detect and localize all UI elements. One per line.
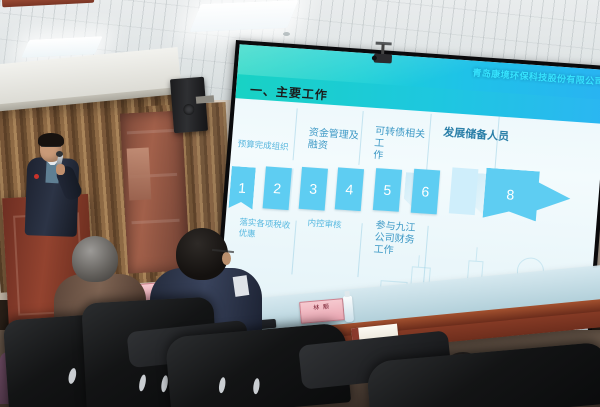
step-label-6: 参与九江 公司财务 工作 <box>373 220 428 260</box>
audience-2-ear <box>222 252 231 265</box>
flow-step-4[interactable]: 4 <box>335 167 364 211</box>
step-label-3: 资金管理及 融资 <box>307 127 361 155</box>
speaker-driver-icon <box>183 104 195 116</box>
presenter-lapel-pin <box>34 174 39 179</box>
presenter <box>24 136 86 232</box>
step-label-1: 预算完成组织 <box>237 138 296 153</box>
presenter-hand <box>56 164 65 175</box>
name-placard: 林 颙 <box>299 298 345 324</box>
flow-step-6[interactable]: 6 <box>411 169 440 215</box>
step-label-5: 可转债相关工 作 <box>373 126 430 166</box>
flow-step-1[interactable]: 1 <box>229 166 256 210</box>
chair-highlight <box>252 378 260 395</box>
audience-1-head <box>72 236 118 282</box>
step-label-4: 内控审核 <box>307 217 362 232</box>
audience-2-shirt <box>233 275 250 297</box>
flow-step-7[interactable]: 7 <box>449 167 479 215</box>
audience-2-head <box>176 228 228 280</box>
wall-speaker <box>170 77 208 134</box>
smoke-detector-icon <box>283 32 290 36</box>
flow-step-8[interactable]: 8 <box>483 168 573 224</box>
flow-step-2[interactable]: 2 <box>263 166 292 210</box>
chair-highlight <box>218 377 226 394</box>
microphone-head-icon <box>56 151 63 157</box>
step-label-8: 发展储备人员 <box>443 127 544 147</box>
wood-wall-panel-highlight <box>127 147 152 200</box>
chair-highlight <box>67 367 77 384</box>
conference-room-photo: 青岛康境环保科技股份有限公司 一、主要工作 <box>0 0 600 407</box>
label-separator <box>494 117 500 175</box>
name-placard-text: 林 颙 <box>300 299 343 315</box>
flow-step-5[interactable]: 5 <box>373 168 402 212</box>
ceiling-projector <box>372 47 395 64</box>
presenter-hair <box>38 133 64 147</box>
chair-highlight <box>138 374 147 392</box>
flow-step-3[interactable]: 3 <box>299 167 328 211</box>
ceiling-light-panel <box>189 0 298 32</box>
